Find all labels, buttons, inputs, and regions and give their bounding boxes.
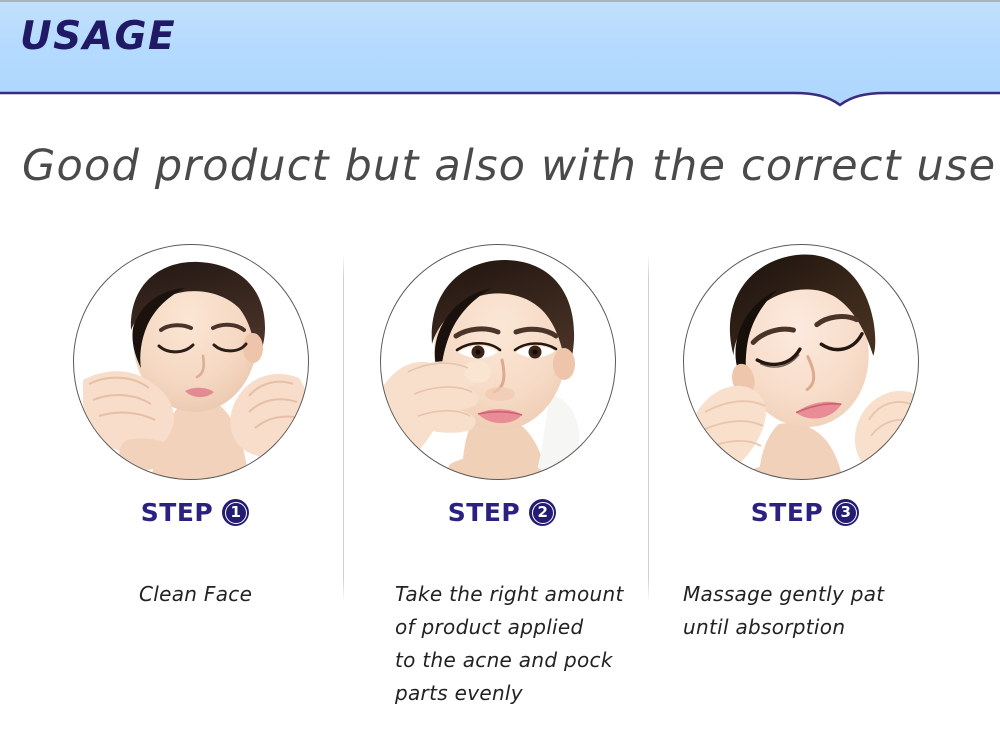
step-2-caption-line-3: to the acne and pock [395,644,645,677]
step-3-label: STEP3 [655,498,955,527]
step-item-1: STEP1 Clean Face [45,236,345,736]
woman-massaging-cheeks-photo [683,244,919,480]
woman-cleansing-face-photo [73,244,309,480]
step-2-caption-line-1: Take the right amount [395,578,645,611]
step-3-caption-line-1: Massage gently pat [683,578,943,611]
step-1-caption: Clean Face [139,578,252,611]
step-3-photo [683,244,919,480]
usage-instructions-page: USAGE Good product but also with the cor… [0,0,1000,749]
step-3-caption: Massage gently pat until absorption [683,578,943,644]
step-item-3: STEP3 Massage gently pat until absorptio… [655,236,955,736]
woman-applying-product-to-nose-photo [380,244,616,480]
step-2-label: STEP2 [352,498,652,527]
step-1-label: STEP1 [45,498,345,527]
step-1-word: STEP [141,498,213,527]
step-1-number: 1 [231,503,241,521]
step-2-word: STEP [448,498,520,527]
step-2-caption: Take the right amount of product applied… [395,578,645,710]
step-2-number-badge: 2 [529,499,556,526]
page-headline: Good product but also with the correct u… [22,141,978,191]
usage-banner: USAGE [0,0,1000,112]
step-2-photo [380,244,616,480]
step-2-caption-line-2: of product applied [395,611,645,644]
step-2-caption-line-4: parts evenly [395,677,645,710]
step-3-caption-line-2: until absorption [683,611,943,644]
step-3-word: STEP [751,498,823,527]
step-item-2: STEP2 Take the right amount of product a… [352,236,652,736]
steps-row: STEP1 Clean Face [0,236,1000,736]
step-1-caption-line-1: Clean Face [139,578,252,611]
banner-title: USAGE [20,17,176,56]
step-1-number-badge: 1 [222,499,249,526]
step-3-number-badge: 3 [832,499,859,526]
step-2-number: 2 [538,503,548,521]
step-3-number: 3 [841,503,851,521]
step-1-photo [73,244,309,480]
